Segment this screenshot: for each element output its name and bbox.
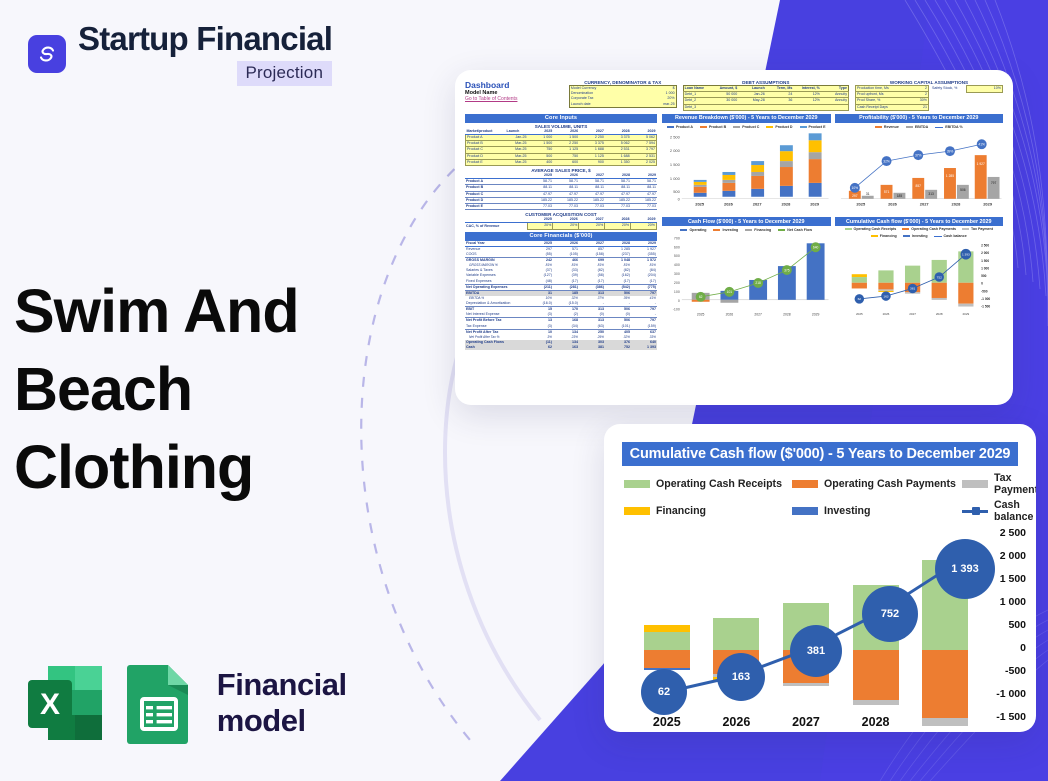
svg-text:31: 31 <box>865 192 869 196</box>
svg-text:185: 185 <box>896 194 902 198</box>
svg-text:2029: 2029 <box>810 202 820 207</box>
svg-text:0: 0 <box>678 299 680 303</box>
chart-plot: 2 5002 0001 500 1 0005000 202520 <box>662 131 831 209</box>
data-label-bubble: 752 <box>862 586 918 642</box>
currency-row-value: mar-25 <box>623 102 676 108</box>
svg-text:X: X <box>40 688 60 721</box>
left-column: Startup Financial Projection Swim And Be… <box>0 0 440 781</box>
legend-swatch <box>792 507 818 515</box>
svg-text:2027: 2027 <box>909 312 916 316</box>
working-capital-assumptions-block: WORKING CAPITAL ASSUMPTIONS Production t… <box>855 80 1003 111</box>
cash-flow-chart[interactable]: Cash Flow ($'000) - 5 Years to December … <box>662 217 831 324</box>
currency-block-header: CURRENCY, DENOMINATOR & TAX <box>569 80 677 85</box>
legend-line-marker <box>962 507 988 515</box>
svg-text:857: 857 <box>915 184 921 188</box>
brand-subtitle: Projection <box>237 61 333 86</box>
data-label-bubble: 62 <box>641 669 687 715</box>
row-value: 1 393 <box>631 345 657 350</box>
svg-text:2027: 2027 <box>753 202 763 207</box>
legend-item: Investing <box>792 499 962 523</box>
svg-text:700: 700 <box>674 237 680 241</box>
wc-side-label: Safety Stock, % <box>931 86 967 93</box>
x-tick: 2028 <box>841 715 911 729</box>
svg-text:2028: 2028 <box>935 312 942 316</box>
svg-text:2026: 2026 <box>726 313 734 317</box>
svg-text:2029: 2029 <box>983 202 993 207</box>
row-value: 163 <box>553 345 579 350</box>
brand-title: Startup Financial <box>78 22 332 57</box>
cumulative-cash-flow-mini-chart[interactable]: Cumulative Cash flow ($'000) - 5 Years t… <box>835 217 1004 324</box>
svg-text:10%: 10% <box>851 186 858 190</box>
x-tick: 2026 <box>702 715 772 729</box>
svg-text:2 500: 2 500 <box>981 244 989 248</box>
chart-plot-area: 2 500 2 000 1 500 1 000 500 0 -500 -1 00… <box>632 533 980 709</box>
svg-text:0: 0 <box>678 197 681 202</box>
svg-text:2 500: 2 500 <box>670 134 681 139</box>
svg-text:2027: 2027 <box>919 202 929 207</box>
svg-text:101: 101 <box>727 290 733 294</box>
y-tick: 0 <box>1020 642 1026 654</box>
svg-text:1 000: 1 000 <box>981 267 989 271</box>
legend-item: Cash balance <box>962 499 1036 523</box>
svg-text:2028: 2028 <box>783 313 791 317</box>
svg-text:640: 640 <box>813 246 819 250</box>
chart-plot: 2 5002 0001 5001 000 5000-500-1 000-1 50… <box>835 239 1004 317</box>
table-row: Cash621633817521 393 <box>465 345 657 350</box>
svg-text:100: 100 <box>674 290 680 294</box>
circular-swirl-logo-icon <box>28 35 66 73</box>
svg-text:2027: 2027 <box>754 313 762 317</box>
svg-text:2029: 2029 <box>962 312 969 316</box>
footer-row: X Financial model <box>26 662 440 744</box>
dashboard-charts-panel: Revenue Breakdown ($'000) - 5 Years to D… <box>662 114 1003 350</box>
svg-text:2029: 2029 <box>812 313 820 317</box>
chart-plot: 10% 32% 37% 39% 41% 297 571 857 1 285 1 … <box>835 131 1004 209</box>
svg-text:37%: 37% <box>914 153 921 157</box>
svg-text:0: 0 <box>981 282 983 286</box>
revenue-breakdown-chart[interactable]: Revenue Breakdown ($'000) - 5 Years to D… <box>662 114 831 214</box>
svg-text:600: 600 <box>674 245 680 249</box>
svg-text:2028: 2028 <box>781 202 791 207</box>
bar-segment-tax <box>922 718 968 726</box>
svg-text:218: 218 <box>755 281 761 285</box>
chart-title: Revenue Breakdown ($'000) - 5 Years to D… <box>662 114 831 123</box>
row-label: Cash <box>465 345 527 350</box>
svg-text:2025: 2025 <box>697 313 705 317</box>
svg-text:200: 200 <box>674 281 680 285</box>
svg-text:2026: 2026 <box>882 312 889 316</box>
table-row: CAC, % of Revenue 20% 20% 20% 20% 20% <box>465 223 657 229</box>
svg-text:1 927: 1 927 <box>976 162 984 166</box>
page-title: Swim And Beach Clothing <box>14 272 414 506</box>
profitability-chart[interactable]: Profitability ($'000) - 5 Years to Decem… <box>835 114 1004 214</box>
cac-table: 2025 2026 2027 2028 2029 CAC, % of Reven… <box>465 217 657 229</box>
svg-text:752: 752 <box>936 275 941 279</box>
chart-title: Cumulative Cash flow ($'000) - 5 Years t… <box>622 442 1018 466</box>
svg-text:-1 500: -1 500 <box>981 305 990 309</box>
svg-text:300: 300 <box>674 272 680 276</box>
svg-text:2028: 2028 <box>951 202 961 207</box>
svg-text:506: 506 <box>960 188 966 192</box>
debt-assumptions-block: DEBT ASSUMPTIONS Loan Name Amount, $ Lau… <box>683 80 849 111</box>
brand-lockup: Startup Financial Projection <box>28 22 332 86</box>
chart-title: Profitability ($'000) - 5 Years to Decem… <box>835 114 1004 123</box>
legend-item: Financing <box>624 499 792 523</box>
y-tick: 1 500 <box>1000 573 1026 585</box>
legend-swatch <box>624 507 650 515</box>
svg-text:1 000: 1 000 <box>670 176 681 181</box>
chart-plot: 700600500400 3002001000-100 <box>662 234 831 319</box>
svg-text:1 500: 1 500 <box>981 259 989 263</box>
data-label-bubble: 1 393 <box>935 539 995 599</box>
chart-title: Cash Flow ($'000) - 5 Years to December … <box>662 217 831 226</box>
svg-text:-500: -500 <box>981 289 988 293</box>
svg-text:1 285: 1 285 <box>945 174 953 178</box>
svg-text:571: 571 <box>883 190 889 194</box>
svg-text:500: 500 <box>674 254 680 258</box>
wc-side-value: 10% <box>967 86 1003 93</box>
row-value: 752 <box>605 345 631 350</box>
wc-row-value: 21 <box>892 104 929 110</box>
row-value: 381 <box>579 345 605 350</box>
svg-text:62: 62 <box>699 295 703 299</box>
svg-text:2 000: 2 000 <box>670 148 681 153</box>
data-label-bubble: 381 <box>790 625 842 677</box>
table-row: Debt_3 <box>683 104 848 110</box>
y-tick: 2 500 <box>1000 527 1026 539</box>
y-tick: 2 000 <box>1000 550 1026 562</box>
svg-text:375: 375 <box>784 269 790 273</box>
y-tick: -1 000 <box>996 688 1026 700</box>
legend-swatch <box>792 480 818 488</box>
y-tick: -1 500 <box>996 711 1026 723</box>
svg-text:41%: 41% <box>978 143 985 147</box>
chart-legend: Operating Investing Financing Net Cash F… <box>662 226 831 234</box>
core-financials-table: Fiscal Year 2025 2026 2027 2028 2029 Rev… <box>465 241 657 350</box>
x-tick: 2025 <box>632 715 702 729</box>
chart-title: Cumulative Cash flow ($'000) - 5 Years t… <box>835 217 1004 226</box>
svg-text:39%: 39% <box>946 149 953 153</box>
chart-legend: Revenue EBITDA EBITDA % <box>835 123 1004 131</box>
chart-legend: Operating Cash Receipts Operating Cash P… <box>835 226 1004 239</box>
svg-text:381: 381 <box>909 287 914 291</box>
x-tick: 2027 <box>771 715 841 729</box>
table-row: Product EMar-254006009001 3502 025 <box>466 159 657 165</box>
legend-item: Operating Cash Payments <box>792 472 962 496</box>
legend-swatch <box>624 480 650 488</box>
svg-text:2 000: 2 000 <box>981 251 989 255</box>
svg-text:797: 797 <box>990 181 996 185</box>
wc-row-label: Production time, Ms <box>856 86 893 92</box>
svg-text:2025: 2025 <box>855 312 862 316</box>
legend-swatch <box>962 480 988 488</box>
y-tick: -500 <box>1005 665 1026 677</box>
table-row: Product E77.0377.0377.0377.0377.03 <box>465 204 657 210</box>
svg-text:32%: 32% <box>883 159 890 163</box>
svg-text:313: 313 <box>928 192 934 196</box>
y-tick: 500 <box>1008 619 1026 631</box>
core-financials-band: Core Financials ($'000) <box>465 232 657 241</box>
svg-text:1 393: 1 393 <box>961 253 969 257</box>
toc-link[interactable]: Go to Table of Contents <box>465 96 563 102</box>
svg-text:163: 163 <box>883 294 888 298</box>
dashboard-title: Dashboard <box>465 80 563 90</box>
wc-row-label: Cash Receipt Days <box>856 104 893 110</box>
svg-text:-1 000: -1 000 <box>981 297 990 301</box>
svg-text:400: 400 <box>674 263 680 267</box>
average-price-table: 2025 2026 2027 2028 2029 Product A58.715… <box>465 173 657 210</box>
svg-text:1 500: 1 500 <box>670 162 681 167</box>
core-inputs-band: Core Inputs <box>465 114 657 123</box>
sales-volume-table: Market/product Launch 2025 2026 2027 202… <box>465 129 657 166</box>
svg-text:297: 297 <box>852 194 858 198</box>
svg-text:2026: 2026 <box>888 202 898 207</box>
core-inputs-panel: Core Inputs SALES VOLUME, UNITS Market/p… <box>465 114 657 350</box>
currency-row-label: Launch date <box>569 102 622 108</box>
chart-legend: Product A Product B Product C Product D … <box>662 123 831 131</box>
y-tick: 1 000 <box>1000 596 1026 608</box>
svg-text:62: 62 <box>857 297 861 301</box>
footer-label: Financial model <box>217 667 440 739</box>
dashboard-screenshot-card[interactable]: Dashboard Model Name Go to Table of Cont… <box>455 70 1013 405</box>
microsoft-excel-icon: X <box>26 662 104 744</box>
svg-text:-100: -100 <box>673 308 680 312</box>
svg-text:2025: 2025 <box>695 202 705 207</box>
currency-denominator-tax-block: CURRENCY, DENOMINATOR & TAX Model Curren… <box>569 80 677 111</box>
data-label-bubble: 163 <box>717 653 765 701</box>
legend-item: Operating Cash Receipts <box>624 472 792 496</box>
svg-text:2025: 2025 <box>856 202 866 207</box>
svg-text:500: 500 <box>673 189 680 194</box>
chart-legend: Operating Cash Receipts Operating Cash P… <box>624 472 1016 523</box>
legend-item: Tax Payment <box>962 472 1036 496</box>
google-sheets-icon <box>122 662 199 744</box>
row-value: 62 <box>527 345 553 350</box>
svg-text:2026: 2026 <box>724 202 734 207</box>
cumulative-cash-flow-card[interactable]: Cumulative Cash flow ($'000) - 5 Years t… <box>604 424 1036 732</box>
svg-text:500: 500 <box>981 274 987 278</box>
